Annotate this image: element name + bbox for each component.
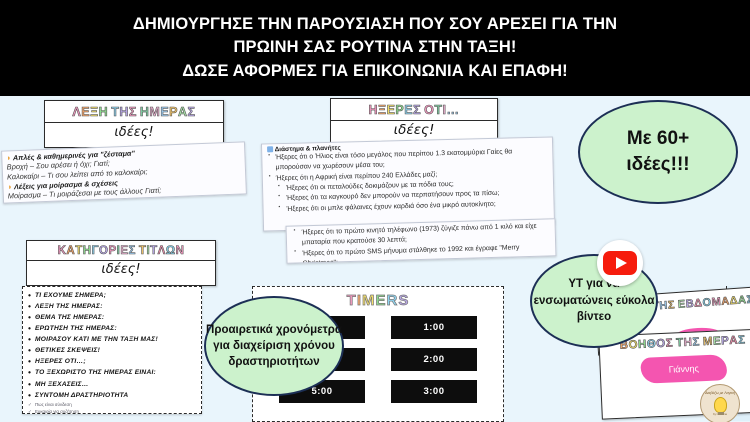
header-line-2: ΠΡΩΙΝΗ ΣΑΣ ΡΟΥΤΙΝΑ ΣΤΗΝ ΤΑΞΗ! [233, 36, 516, 59]
callout-ideas-count: Με 60+ ιδέες!!! [578, 100, 738, 204]
category-list-item: ΜΗ ΞΕΧΑΣΕΙΣ… [28, 379, 197, 390]
logo-top-text: Διαβάζω με Λογική [705, 392, 735, 396]
header-banner: ΔΗΜΙΟΥΡΓΗΣΕ ΤΗΝ ΠΑΡΟΥΣΙΑΣΗ ΠΟΥ ΣΟΥ ΑΡΕΣΕ… [0, 0, 750, 96]
callout-timers-note: Προαιρετικά χρονόμετρα για διαχείριση χρ… [204, 296, 344, 396]
lightbulb-icon [714, 397, 727, 413]
slide-preview-stage: ΛΕΞΗ ΤΗΣ ΗΜΕΡΑΣ ιδέες! ◗ Απλές & καθημερ… [0, 96, 750, 422]
categories-subtitle: ιδέες! [27, 261, 215, 277]
play-triangle-icon [616, 257, 627, 269]
word-of-day-title: ΛΕΞΗ ΤΗΣ ΗΜΕΡΑΣ [45, 101, 223, 119]
did-you-know-notes-sheet: Διάστημα & πλανήτες Ήξερες ότι ο Ήλιος ε… [261, 136, 555, 231]
category-mini-item: Ευκαιρία για συζήτηση [28, 408, 197, 414]
header-line-3: ΔΩΣΕ ΑΦΟΡΜΕΣ ΓΙΑ ΕΠΙΚΟΙΝΩΝΙΑ ΚΑΙ ΕΠΑΦΗ! [182, 60, 568, 83]
categories-mini-list: Πως είναι σύνδεσηΕυκαιρία για συζήτησηΦύ… [28, 401, 197, 414]
category-list-item: ΕΡΩΤΗΣΗ ΤΗΣ ΗΜΕΡΑΣ: [28, 323, 197, 334]
categories-list: ΤΙ ΕΧΟΥΜΕ ΣΗΜΕΡΑ;ΛΕΞΗ ΤΗΣ ΗΜΕΡΑΣ:ΘΕΜΑ ΤΗ… [28, 290, 197, 401]
category-list-item: ΛΕΞΗ ΤΗΣ ΗΜΕΡΑΣ: [28, 301, 197, 312]
categories-list-sheet: ΤΙ ΕΧΟΥΜΕ ΣΗΜΕΡΑ;ΛΕΞΗ ΤΗΣ ΗΜΕΡΑΣ:ΘΕΜΑ ΤΗ… [22, 286, 202, 414]
brand-logo: Διαβάζω με Λογική by Christina [700, 384, 740, 422]
category-list-item: ΘΕΜΑ ΤΗΣ ΗΜΕΡΑΣ: [28, 312, 197, 323]
categories-title: ΚΑΤΗΓΟΡΙΕΣ ΤΙΤΛΩΝ [27, 241, 215, 257]
did-you-know-subtitle: ιδέες! [331, 121, 497, 138]
youtube-play-icon [603, 251, 637, 275]
timer-chip[interactable]: 2:00 [391, 348, 477, 371]
word-note-line: Συμπόνια – Τι κάνω όταν κάποιος είναι στ… [8, 202, 242, 203]
word-of-day-notes-sheet: ◗ Απλές & καθημερινές για "ζέσταμα" Βροχ… [1, 141, 247, 203]
category-list-item: ΣΥΝΤΟΜΗ ΔΡΑΣΤΗΡΙΟΤΗΤΑ [28, 390, 197, 401]
category-list-item: ΘΕΤΙΚΕΣ ΣΚΕΨΕΙΣ! [28, 345, 197, 356]
did-you-know-notes-sheet-2: Ήξερες ότι το πρώτο κινητό τηλέφωνο (197… [286, 218, 557, 264]
helper-name-tag: Γιάννης [640, 354, 727, 384]
category-list-item: ΗΞΕΡΕΣ ΟΤΙ…; [28, 356, 197, 367]
category-list-item: ΤΙ ΕΧΟΥΜΕ ΣΗΜΕΡΑ; [28, 290, 197, 301]
spiral-icon: ◗ [6, 153, 11, 162]
category-list-item: ΜΟΙΡΑΣΟΥ ΚΑΤΙ ΜΕ ΤΗΝ ΤΑΞΗ ΜΑΣ! [28, 334, 197, 345]
youtube-icon[interactable] [597, 240, 643, 286]
slide-card-title-categories[interactable]: ΚΑΤΗΓΟΡΙΕΣ ΤΙΤΛΩΝ ιδέες! [26, 240, 216, 286]
word-of-day-subtitle: ιδέες! [45, 123, 223, 140]
timer-chip[interactable]: 1:00 [391, 316, 477, 339]
timer-chip[interactable]: 3:00 [391, 380, 477, 403]
ideas-count-line-2: ιδέες!!! [626, 152, 689, 178]
did-you-know-title: ΗΞΕΡΕΣ ΟΤΙ… [331, 99, 497, 117]
slide-card-word-of-day[interactable]: ΛΕΞΗ ΤΗΣ ΗΜΕΡΑΣ ιδέες! [44, 100, 224, 148]
category-list-item: ΤΟ ΞΕΧΩΡΙΣΤΟ ΤΗΣ ΗΜΕΡΑΣ ΕΙΝΑΙ: [28, 367, 197, 378]
header-line-1: ΔΗΜΙΟΥΡΓΗΣΕ ΤΗΝ ΠΑΡΟΥΣΙΑΣΗ ΠΟΥ ΣΟΥ ΑΡΕΣΕ… [133, 13, 617, 36]
ideas-count-line-1: Με 60+ [626, 126, 689, 152]
spiral-icon: ◗ [7, 182, 12, 191]
category-mini-item: Πως είναι σύνδεση [28, 401, 197, 408]
